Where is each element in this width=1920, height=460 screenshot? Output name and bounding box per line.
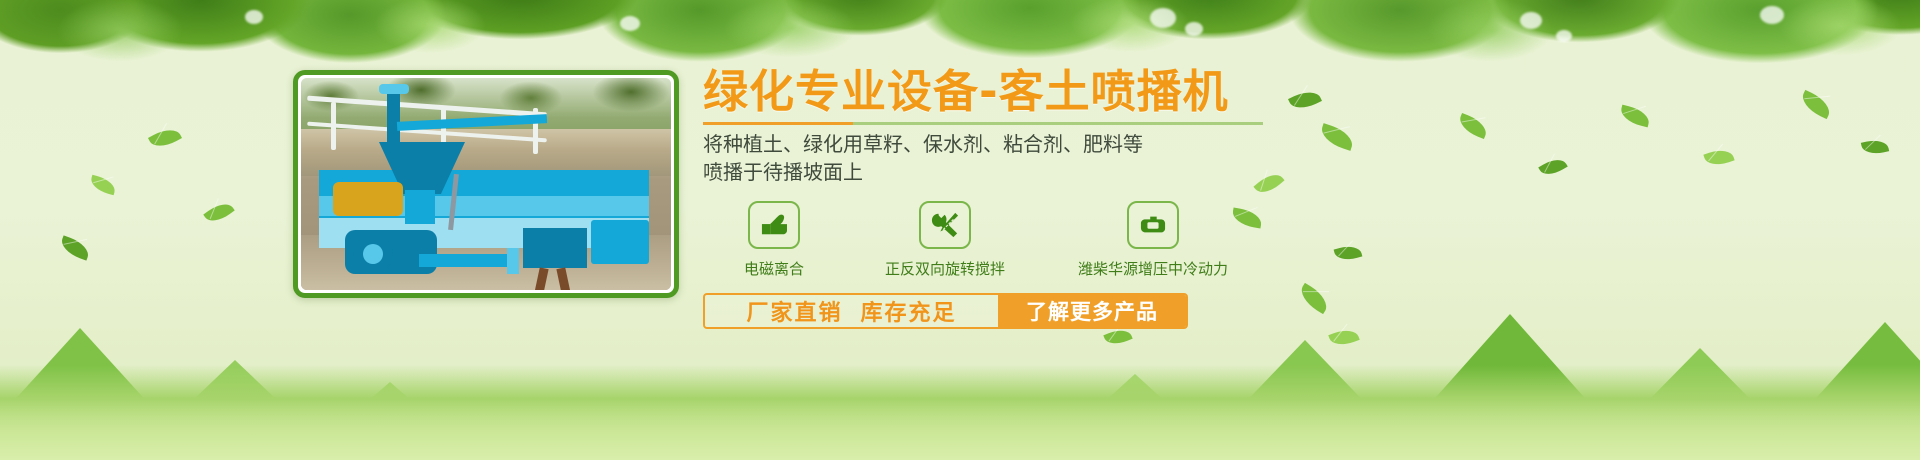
title-divider: [703, 122, 1263, 125]
machine-outlet-flange: [507, 248, 519, 274]
machine-chute: [405, 190, 435, 224]
feature-item-bidirectional-mixing[interactable]: 正反双向旋转搅拌: [845, 201, 1045, 279]
cta-slogan-left: 厂家直销: [746, 295, 842, 327]
feature-label: 电磁离合: [744, 258, 804, 279]
cta-slogan-right: 库存充足: [861, 295, 957, 327]
cta-slogan: 厂家直销 库存充足: [705, 295, 998, 327]
leaf-icon: [89, 175, 118, 196]
leaf-icon: [203, 198, 234, 227]
wrench-screwdriver-icon: [930, 211, 960, 239]
blossom-icon: [1760, 6, 1784, 24]
learn-more-button[interactable]: 了解更多产品: [998, 295, 1186, 327]
machine-side-box: [523, 228, 587, 268]
leaf-icon: [1456, 113, 1490, 139]
feature-icon-box: [1127, 201, 1179, 249]
leaf-icon: [1538, 154, 1568, 179]
leaf-icon: [1861, 137, 1889, 156]
cta-bar: 厂家直销 库存充足 了解更多产品: [703, 293, 1188, 329]
divider-accent: [703, 122, 853, 125]
photo-railing: [331, 102, 336, 150]
blossom-icon: [1185, 22, 1203, 36]
leaf-icon: [1703, 146, 1734, 169]
blossom-icon: [620, 16, 640, 31]
machine-pump-hub: [363, 244, 383, 264]
feature-label: 正反双向旋转搅拌: [885, 258, 1005, 279]
thumbs-up-icon: [759, 212, 789, 238]
product-photo-frame: [293, 70, 679, 298]
blossom-icon: [245, 10, 263, 24]
feature-list: 电磁离合 正反双向旋转搅拌: [703, 201, 1403, 279]
feature-item-electromagnetic-clutch[interactable]: 电磁离合: [703, 201, 845, 279]
machine-mast: [387, 88, 400, 150]
machine-mast-cap: [379, 84, 409, 94]
page-title: 绿化专业设备-客土喷播机: [703, 66, 1403, 118]
product-photo: [301, 78, 671, 290]
banner-content: 绿化专业设备-客土喷播机 将种植土、绿化用草籽、保水剂、粘合剂、肥料等 喷播于待…: [703, 66, 1403, 329]
machine-control-box: [591, 220, 649, 264]
promo-banner: 绿化专业设备-客土喷播机 将种植土、绿化用草籽、保水剂、粘合剂、肥料等 喷播于待…: [0, 0, 1920, 460]
feature-icon-box: [748, 201, 800, 249]
feature-label: 潍柴华源增压中冷动力: [1078, 258, 1228, 279]
subtitle-line-1: 将种植土、绿化用草籽、保水剂、粘合剂、肥料等: [703, 132, 1403, 159]
grass-highlight-layer: [0, 400, 1920, 460]
feature-item-weichai-power[interactable]: 潍柴华源增压中冷动力: [1045, 201, 1261, 279]
machine-outlet-pipe: [419, 254, 515, 267]
subtitle-line-2: 喷播于待播坡面上: [703, 160, 1403, 187]
blossom-icon: [1150, 8, 1176, 28]
blossom-icon: [1556, 30, 1572, 42]
engine-icon: [1138, 212, 1168, 238]
machine-engine: [333, 182, 403, 216]
leaf-icon: [148, 124, 182, 152]
blossom-icon: [1520, 12, 1542, 29]
feature-icon-box: [919, 201, 971, 249]
